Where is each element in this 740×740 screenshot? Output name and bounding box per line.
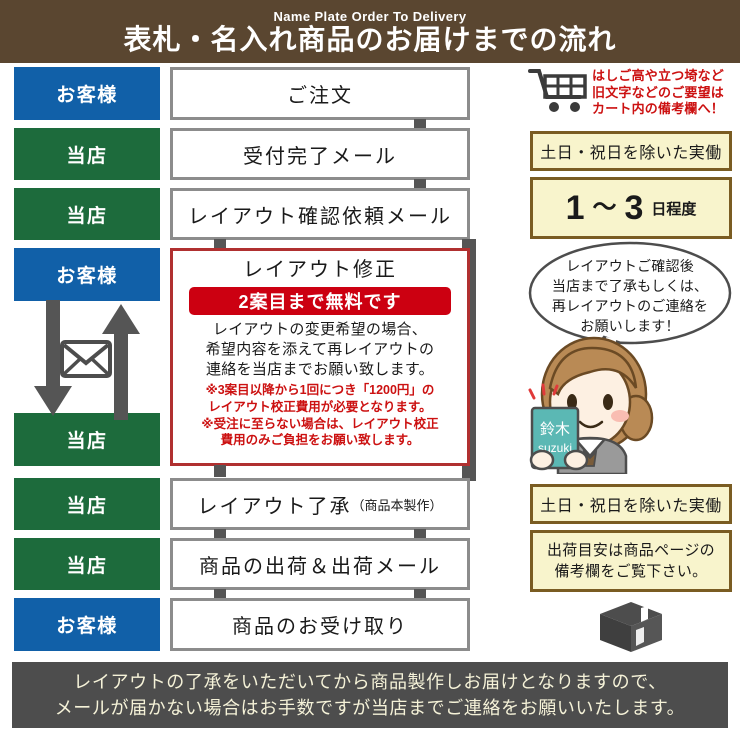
staff-character-illustration: 鈴木 suzuki	[528, 332, 688, 474]
detail-title: レイアウト修正	[243, 257, 397, 283]
layout-revision-detail-box: レイアウト修正 2案目まで無料です レイアウトの変更希望の場合、 希望内容を添え…	[170, 248, 470, 466]
detail-body-line-1: レイアウトの変更希望の場合、	[206, 320, 435, 340]
footer-line-1: レイアウトの了承をいただいてから商品製作しお届けとなりますので、	[73, 669, 666, 695]
role-label: 当店	[66, 551, 107, 578]
role-label: 当店	[66, 141, 107, 168]
role-label: お客様	[56, 611, 118, 638]
flow-step-shipping-mail: 商品の出荷＆出荷メール	[170, 538, 470, 590]
lead-time-tilde: 〜	[586, 196, 624, 220]
flow-step-layout-approved: レイアウト了承（商品本製作）	[170, 478, 470, 530]
role-band-shop-5: 当店	[14, 538, 160, 590]
role-band-customer-1: お客様	[14, 67, 160, 120]
role-band-shop-3: 当店	[14, 413, 160, 466]
panel-shipping-note: 出荷目安は商品ページの 備考欄をご覧下さい。	[530, 530, 732, 592]
detail-note-line-1: ※3案目以降から1回につき「1200円」の	[201, 382, 438, 399]
flow-step-label: レイアウト確認依頼メール	[188, 200, 452, 229]
panel-workdays-bottom: 土日・祝日を除いた実働	[530, 484, 732, 524]
role-label: 当店	[66, 491, 107, 518]
flow-step-label: レイアウト了承	[197, 490, 351, 519]
name-plate-jp: 鈴木	[540, 421, 570, 438]
role-band-shop-4: 当店	[14, 478, 160, 530]
panel-lead-time: 1 〜 3 日程度	[530, 177, 732, 239]
footer-line-2: メールが届かない場合はお手数ですが当店までご連絡をお願いいたします。	[55, 695, 686, 721]
shipping-note-line-2: 備考欄をご覧下さい。	[554, 561, 707, 582]
flow-step-order: ご注文	[170, 67, 470, 120]
flow-step-sublabel: （商品本製作）	[351, 495, 442, 514]
package-box-icon	[596, 600, 666, 654]
speech-bubble: レイアウトご確認後 当店まで了承もしくは、 再レイアウトのご連絡を お願いします…	[526, 241, 734, 345]
detail-body-line-2: 希望内容を添えて再レイアウトの	[206, 340, 435, 360]
lead-time-unit: 日程度	[645, 198, 696, 219]
role-band-shop-2: 当店	[14, 188, 160, 240]
panel-workdays-top: 土日・祝日を除いた実働	[530, 131, 732, 171]
lead-time-from: 1	[566, 191, 587, 225]
bubble-line-2: 当店まで了承もしくは、	[526, 277, 734, 297]
page-title: 表札・名入れ商品のお届けまでの流れ	[123, 26, 616, 54]
role-band-customer-2: お客様	[14, 248, 160, 301]
shopping-cart-icon	[528, 66, 590, 114]
flow-step-label: 受付完了メール	[243, 140, 397, 169]
flow-step-label: ご注文	[287, 79, 353, 108]
role-band-shop-1: 当店	[14, 128, 160, 180]
panel-workdays-top-label: 土日・祝日を除いた実働	[540, 139, 722, 163]
panel-workdays-bottom-label: 土日・祝日を除いた実働	[540, 492, 722, 516]
flow-step-receipt-mail: 受付完了メール	[170, 128, 470, 180]
role-label: お客様	[56, 80, 118, 107]
flow-step-label: 商品のお受け取り	[232, 610, 408, 639]
cart-note-line-3: カート内の備考欄へ！	[592, 101, 724, 118]
shipping-note-line-1: 出荷目安は商品ページの	[547, 540, 715, 561]
detail-note-line-2: レイアウト校正費用が必要となります。	[201, 399, 438, 416]
speech-bubble-text: レイアウトご確認後 当店まで了承もしくは、 再レイアウトのご連絡を お願いします…	[526, 257, 734, 337]
flow-step-label: 商品の出荷＆出荷メール	[199, 550, 441, 579]
bubble-line-1: レイアウトご確認後	[526, 257, 734, 277]
header-eyebrow: Name Plate Order To Delivery	[273, 10, 466, 23]
page-header: Name Plate Order To Delivery 表札・名入れ商品のお届…	[0, 0, 740, 63]
cart-remarks-note: はしご高や立つ埼など 旧文字などのご要望は カート内の備考欄へ！	[592, 68, 724, 118]
role-label: 当店	[66, 426, 107, 453]
detail-body: レイアウトの変更希望の場合、 希望内容を添えて再レイアウトの 連絡を当店までお願…	[206, 320, 435, 379]
connector-stub-4	[214, 465, 226, 477]
flow-step-layout-confirm-mail: レイアウト確認依頼メール	[170, 188, 470, 240]
detail-note-line-3: ※受注に至らない場合は、レイアウト校正	[201, 416, 438, 433]
cart-note-line-2: 旧文字などのご要望は	[592, 85, 724, 102]
detail-note-line-4: 費用のみご負担をお願い致します。	[201, 432, 438, 449]
flow-step-receive-product: 商品のお受け取り	[170, 598, 470, 651]
lead-time-to: 3	[624, 191, 645, 225]
envelope-icon	[60, 340, 112, 378]
role-band-customer-3: お客様	[14, 598, 160, 651]
free-revisions-badge: 2案目まで無料です	[189, 287, 451, 315]
role-label: 当店	[66, 201, 107, 228]
footer-note: レイアウトの了承をいただいてから商品製作しお届けとなりますので、 メールが届かな…	[12, 662, 728, 728]
bubble-line-3: 再レイアウトのご連絡を	[526, 297, 734, 317]
detail-body-line-3: 連絡を当店までお願い致します。	[206, 360, 435, 380]
role-label: お客様	[56, 261, 118, 288]
detail-note: ※3案目以降から1回につき「1200円」の レイアウト校正費用が必要となります。…	[201, 382, 438, 449]
infographic-canvas: Name Plate Order To Delivery 表札・名入れ商品のお届…	[0, 0, 740, 740]
cart-note-line-1: はしご高や立つ埼など	[592, 68, 724, 85]
